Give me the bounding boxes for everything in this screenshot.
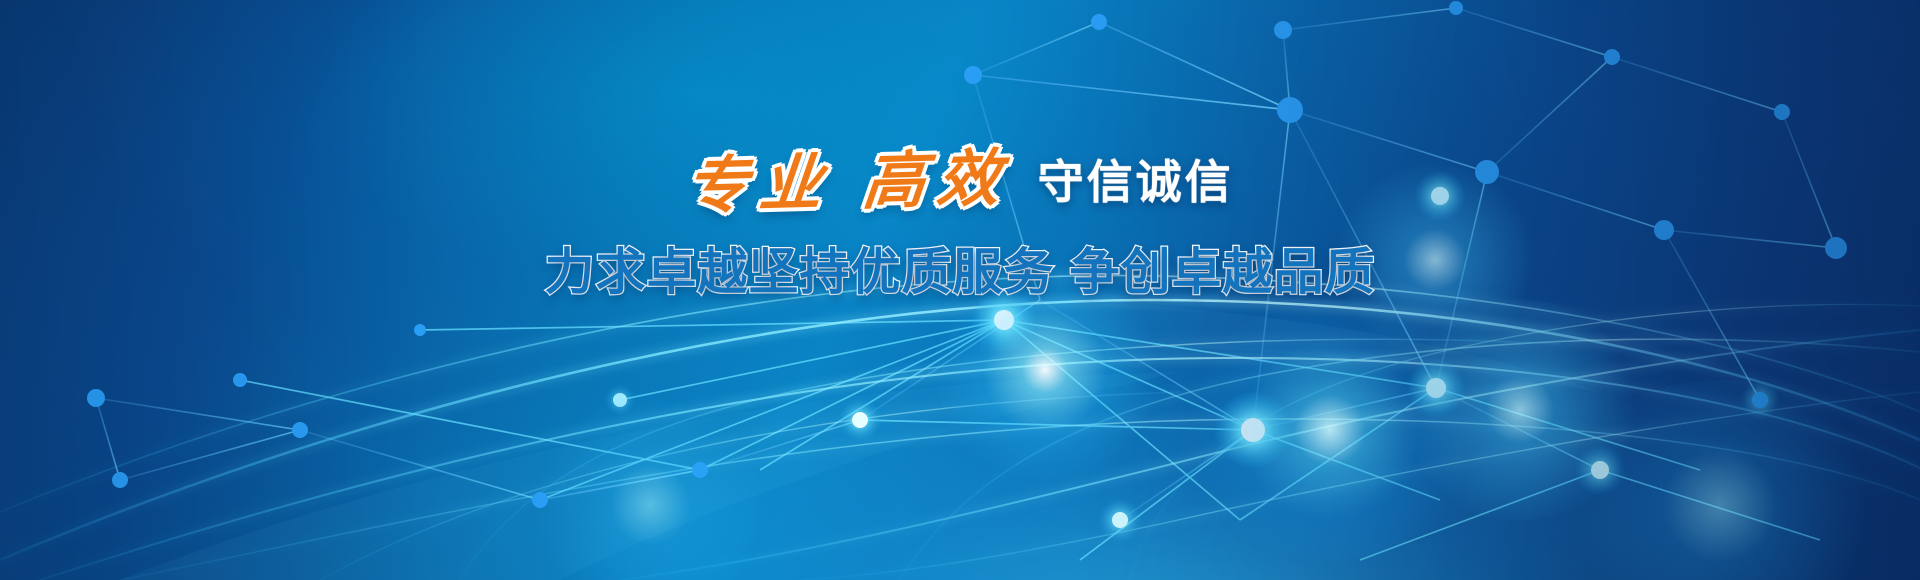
slogan-block: 专业 高效 守信诚信 力求卓越坚持优质服务 争创卓越品质 [0,152,1920,304]
hero-banner: 专业 高效 守信诚信 力求卓越坚持优质服务 争创卓越品质 [0,0,1920,580]
slogan-headline: 专业 高效 守信诚信 [0,152,1920,214]
slogan-subline: 力求卓越坚持优质服务 争创卓越品质 [0,232,1920,304]
slogan-plain-text: 守信诚信 [1038,159,1234,205]
slogan-accent-text: 专业 高效 [683,147,1041,218]
